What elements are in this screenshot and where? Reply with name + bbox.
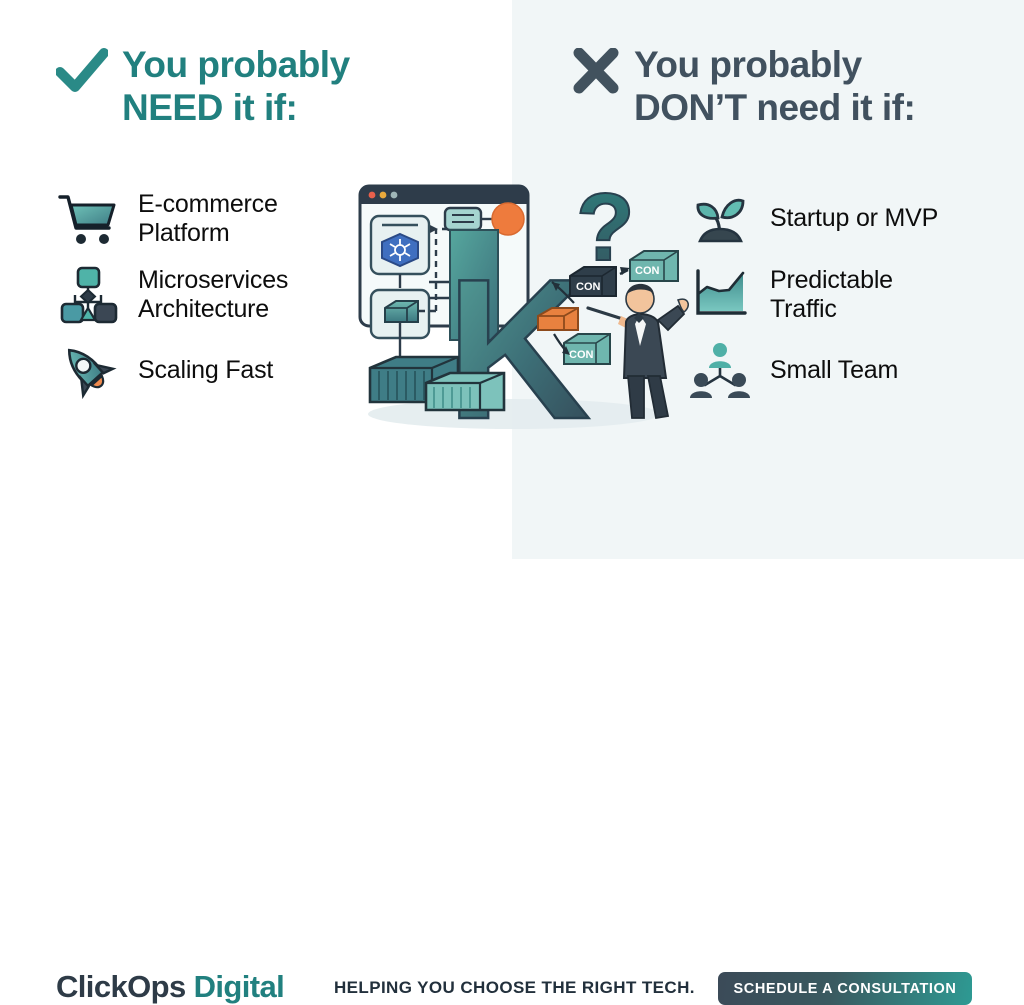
brand-logo: ClickOps Digital (56, 969, 284, 1005)
container-label: CON (635, 265, 660, 277)
list-item-label: Small Team (770, 356, 898, 386)
team-group-icon (688, 340, 752, 402)
infographic-canvas: You probably NEED it if: You probably DO… (0, 0, 1024, 559)
seedling-icon (688, 188, 752, 250)
list-item-label: E-commerce Platform (138, 190, 278, 249)
list-item-small-team: Small Team (688, 340, 1008, 402)
container-label: CON (569, 349, 594, 361)
list-item-label: Startup or MVP (770, 204, 938, 234)
left-panel-heading: You probably NEED it if: (56, 44, 350, 130)
footer-bar: ClickOps Digital HELPING YOU CHOOSE THE … (0, 485, 1024, 559)
shopping-cart-icon (56, 188, 120, 250)
brand-name-secondary: Digital (186, 969, 285, 1004)
list-item-label: Scaling Fast (138, 356, 273, 386)
list-item-label: Predictable Traffic (770, 266, 893, 325)
schedule-consultation-button[interactable]: SCHEDULE A CONSULTATION (718, 972, 972, 1005)
check-icon (56, 48, 108, 99)
kubernetes-concept-illustration: K ? CON (338, 168, 690, 444)
area-chart-icon (688, 264, 752, 326)
container-label: CON (576, 281, 601, 293)
brand-name-primary: ClickOps (56, 969, 186, 1004)
list-item-predictable-traffic: Predictable Traffic (688, 264, 1008, 326)
dont-need-it-list: Startup or MVP Predictable Traffic (688, 188, 1008, 416)
list-item-microservices: Microservices Architecture (56, 264, 356, 326)
right-heading-text: You probably DON’T need it if: (634, 44, 915, 130)
cross-icon (572, 48, 620, 99)
list-item-scaling: Scaling Fast (56, 340, 356, 402)
tagline-text: HELPING YOU CHOOSE THE RIGHT TECH. (334, 978, 695, 998)
left-heading-text: You probably NEED it if: (122, 44, 350, 130)
question-mark: ? (576, 174, 635, 281)
microservices-hierarchy-icon (56, 264, 120, 326)
need-it-list: E-commerce Platform Microservices Archit… (56, 188, 356, 416)
rocket-icon (56, 340, 120, 402)
right-panel-heading: You probably DON’T need it if: (572, 44, 915, 130)
list-item-ecommerce: E-commerce Platform (56, 188, 356, 250)
list-item-startup: Startup or MVP (688, 188, 1008, 250)
list-item-label: Microservices Architecture (138, 266, 288, 325)
